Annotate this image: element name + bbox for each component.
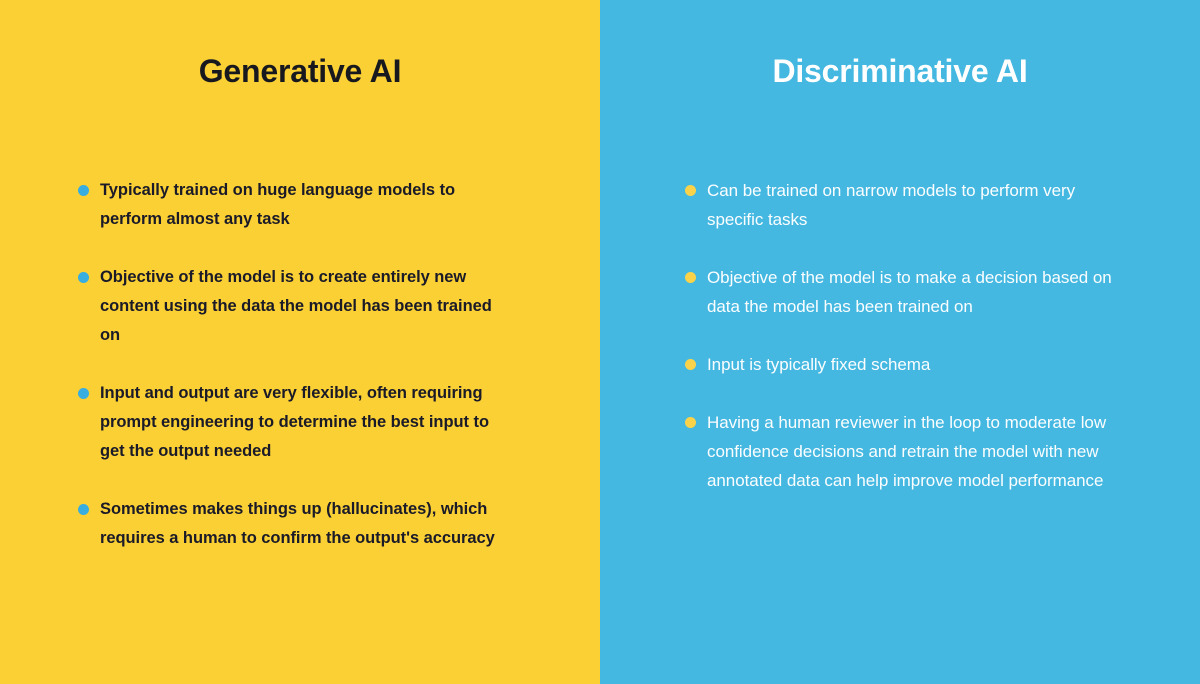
bullet-dot-icon — [78, 185, 89, 196]
bullet-dot-icon — [78, 388, 89, 399]
list-item: Input is typically fixed schema — [685, 350, 1115, 379]
page-title-generative-ai: Generative AI — [0, 54, 600, 89]
page-title-discriminative-ai: Discriminative AI — [600, 54, 1200, 89]
bullet-dot-icon — [685, 417, 696, 428]
list-item: Objective of the model is to make a deci… — [685, 263, 1115, 321]
list-item: Typically trained on huge language model… — [78, 176, 508, 234]
bullet-dot-icon — [685, 185, 696, 196]
comparison-board: Generative AI Typically trained on huge … — [0, 0, 1200, 684]
list-item-label: Typically trained on huge language model… — [100, 176, 508, 234]
list-item: Objective of the model is to create enti… — [78, 263, 508, 350]
list-item-label: Input is typically fixed schema — [707, 350, 1115, 379]
bullet-dot-icon — [78, 272, 89, 283]
list-item: Having a human reviewer in the loop to m… — [685, 408, 1115, 495]
list-item: Input and output are very flexible, ofte… — [78, 379, 508, 466]
list-item: Can be trained on narrow models to perfo… — [685, 176, 1115, 234]
list-item-label: Objective of the model is to make a deci… — [707, 263, 1115, 321]
list-item-label: Having a human reviewer in the loop to m… — [707, 408, 1115, 495]
list-item-label: Sometimes makes things up (hallucinates)… — [100, 495, 508, 553]
panel-generative-ai: Generative AI Typically trained on huge … — [0, 0, 600, 684]
bullet-dot-icon — [78, 504, 89, 515]
bullet-dot-icon — [685, 272, 696, 283]
bullet-list-generative-ai: Typically trained on huge language model… — [78, 176, 508, 553]
panel-discriminative-ai: Discriminative AI Can be trained on narr… — [600, 0, 1200, 684]
list-item-label: Objective of the model is to create enti… — [100, 263, 508, 350]
list-item: Sometimes makes things up (hallucinates)… — [78, 495, 508, 553]
bullet-list-discriminative-ai: Can be trained on narrow models to perfo… — [685, 176, 1115, 495]
list-item-label: Input and output are very flexible, ofte… — [100, 379, 508, 466]
bullet-dot-icon — [685, 359, 696, 370]
list-item-label: Can be trained on narrow models to perfo… — [707, 176, 1115, 234]
